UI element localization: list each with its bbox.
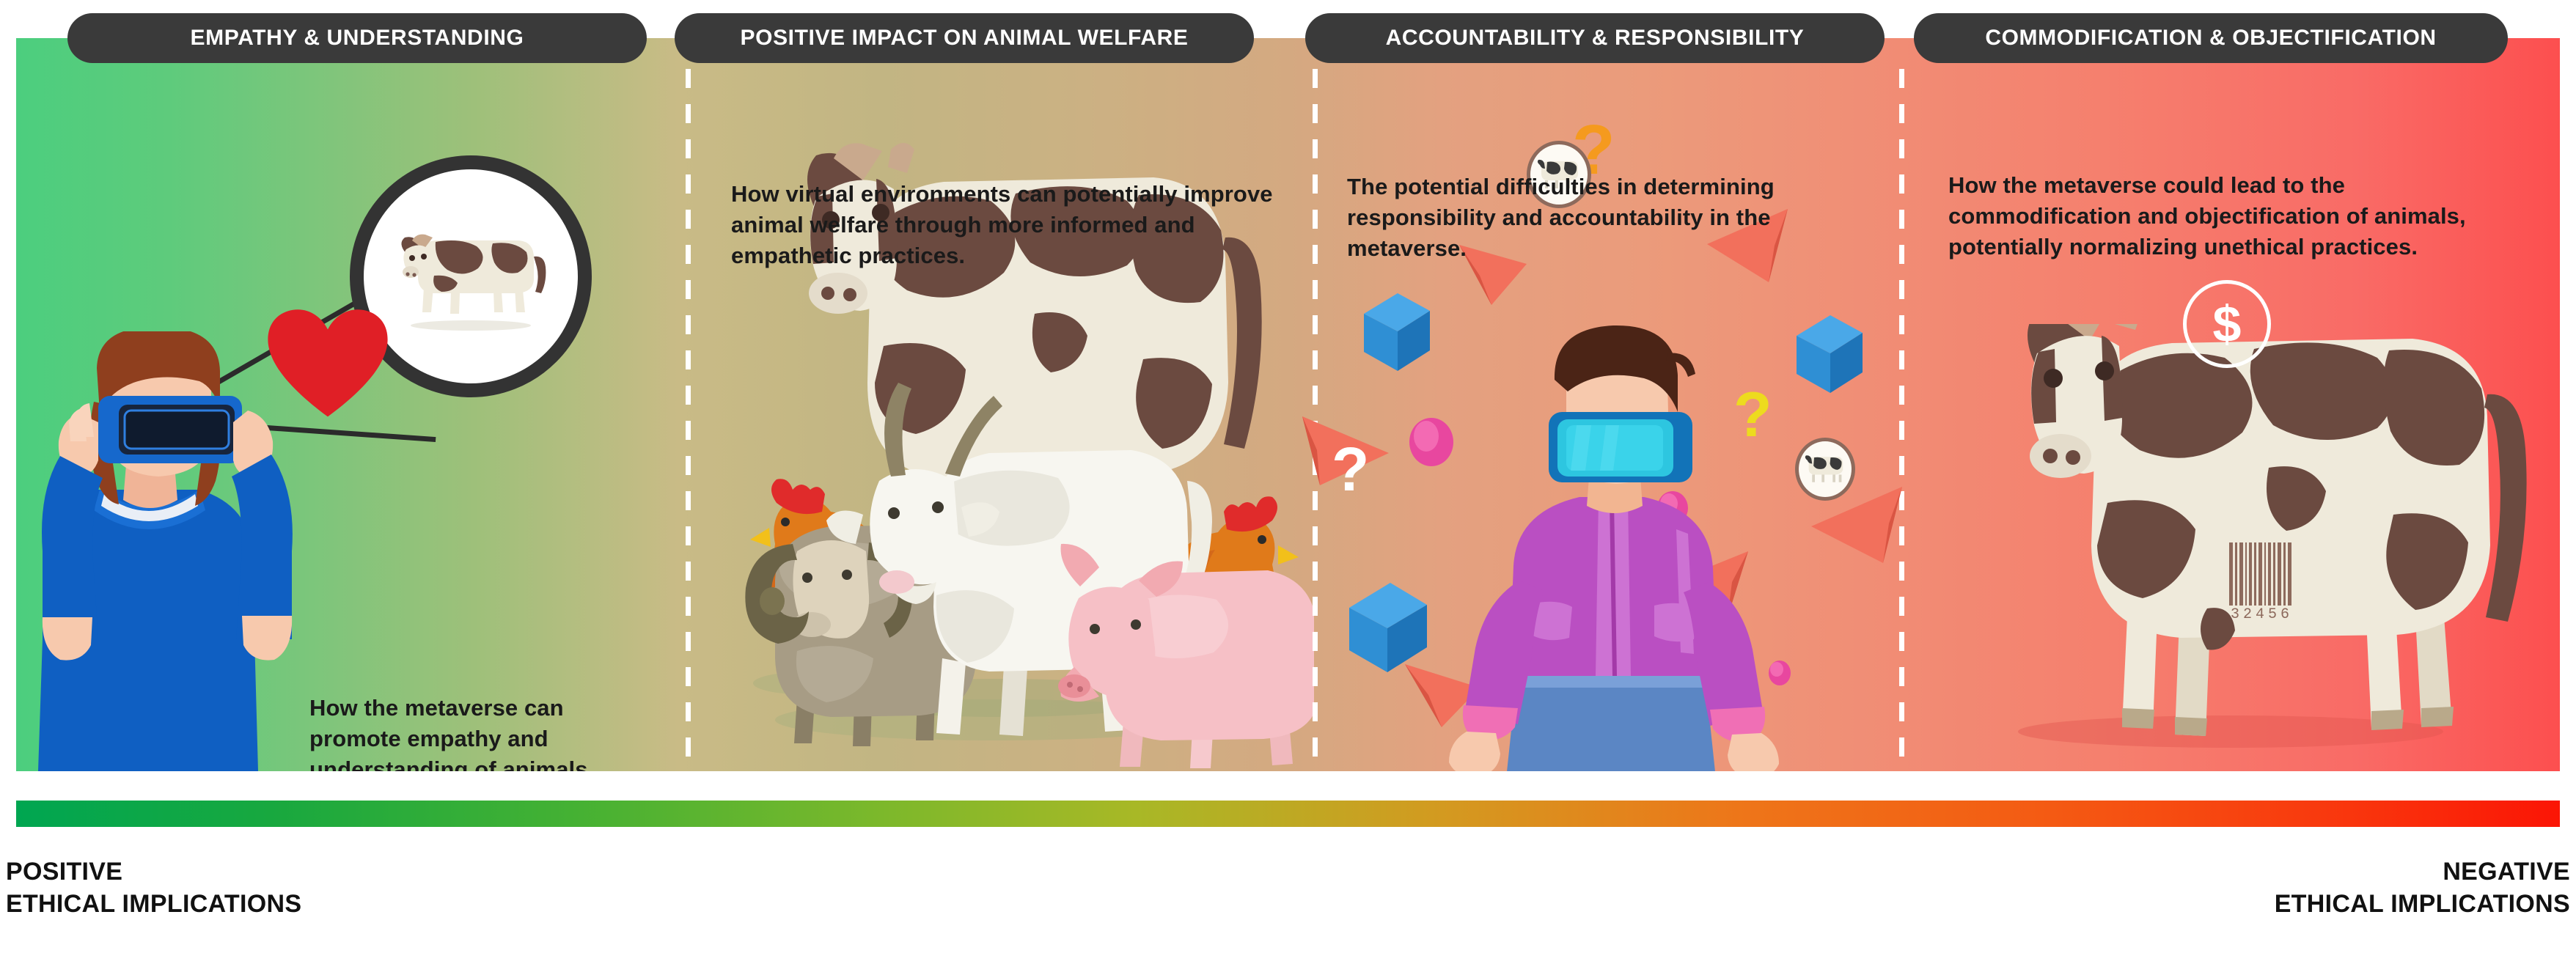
currency-symbol: $	[2213, 298, 2242, 350]
question-mark-icon: ?	[1332, 434, 1369, 505]
infographic-banner: How the metaverse can promote empathy an…	[16, 38, 2560, 771]
heart-icon	[265, 302, 390, 427]
panel-title-commodification[interactable]: COMMODIFICATION & OBJECTIFICATION	[1914, 13, 2508, 63]
panel-animal-welfare: How virtual environments can potentially…	[687, 38, 1314, 771]
panel-divider	[1899, 69, 1904, 758]
panel-title-commodification-label: COMMODIFICATION & OBJECTIFICATION	[1985, 26, 2436, 51]
panel-animal-welfare-body: How virtual environments can potentially…	[731, 179, 1274, 271]
panel-commodification-body: How the metaverse could lead to the comm…	[1948, 170, 2506, 262]
cow-with-barcode-illustration	[1923, 324, 2531, 749]
panel-title-accountability[interactable]: ACCOUNTABILITY & RESPONSIBILITY	[1305, 13, 1885, 63]
footer-positive: POSITIVE ETHICAL IMPLICATIONS	[6, 856, 301, 920]
footer-negative: NEGATIVE ETHICAL IMPLICATIONS	[2275, 856, 2570, 920]
vr-person-illustration	[1409, 309, 1820, 771]
farm-animals-illustration	[687, 38, 1314, 771]
panel-divider	[686, 69, 691, 758]
panel-commodification: $	[1901, 38, 2560, 771]
panel-accountability-body: The potential difficulties in determinin…	[1347, 172, 1875, 264]
panel-title-animal-welfare-label: POSITIVE IMPACT ON ANIMAL WELFARE	[741, 26, 1189, 51]
panel-title-animal-welfare[interactable]: POSITIVE IMPACT ON ANIMAL WELFARE	[675, 13, 1254, 63]
footer-negative-line2: ETHICAL IMPLICATIONS	[2275, 888, 2570, 921]
barcode-icon	[2228, 542, 2294, 606]
barcode-number: 32456	[2231, 606, 2293, 623]
footer-negative-line1: NEGATIVE	[2275, 856, 2570, 888]
panel-empathy-body: How the metaverse can promote empathy an…	[309, 693, 625, 771]
ethical-spectrum-bar	[16, 801, 2560, 827]
footer-positive-line2: ETHICAL IMPLICATIONS	[6, 888, 301, 921]
panel-title-empathy-label: EMPATHY & UNDERSTANDING	[191, 26, 524, 51]
cow-icon	[390, 224, 551, 334]
footer-positive-line1: POSITIVE	[6, 856, 301, 888]
panel-title-empathy[interactable]: EMPATHY & UNDERSTANDING	[67, 13, 647, 63]
dollar-sign-icon: $	[2183, 280, 2271, 368]
panel-empathy: How the metaverse can promote empathy an…	[16, 38, 687, 771]
panel-accountability: ? ? ?	[1314, 38, 1901, 771]
panel-title-accountability-label: ACCOUNTABILITY & RESPONSIBILITY	[1386, 26, 1805, 51]
